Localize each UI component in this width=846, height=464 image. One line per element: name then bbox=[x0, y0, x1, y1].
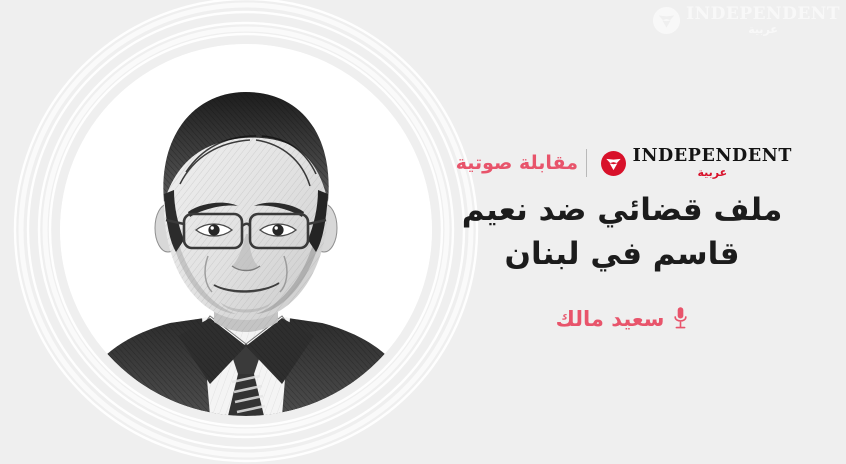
independent-arabia-logo[interactable]: INDEPENDENT عربية bbox=[601, 148, 792, 178]
watermark-wordmark: INDEPENDENT bbox=[686, 6, 840, 23]
byline: سعيد مالك bbox=[452, 306, 792, 331]
vertical-divider bbox=[586, 149, 587, 177]
independent-bird-icon bbox=[601, 151, 626, 176]
headline-line-2: قاسم في لبنان bbox=[452, 232, 792, 276]
independent-bird-icon bbox=[653, 7, 680, 34]
kicker-label: مقابلة صوتية bbox=[452, 152, 586, 174]
headline-line-1: ملف قضائي ضد نعيم bbox=[452, 188, 792, 232]
promo-text-column: مقابلة صوتية INDEPENDENT عربية ملف قضائي… bbox=[452, 0, 846, 464]
byline-author-name: سعيد مالك bbox=[556, 307, 665, 331]
watermark-logo: INDEPENDENT عربية bbox=[653, 6, 840, 35]
headline: ملف قضائي ضد نعيم قاسم في لبنان bbox=[452, 188, 792, 276]
brand-wordmark: INDEPENDENT bbox=[633, 148, 792, 166]
microphone-icon bbox=[673, 306, 688, 331]
portrait-sketch-illustration bbox=[60, 44, 432, 416]
watermark-wordmark-stack: INDEPENDENT عربية bbox=[686, 6, 840, 35]
kicker-row: مقابلة صوتية INDEPENDENT عربية bbox=[452, 138, 792, 188]
brand-sub-arabia: عربية bbox=[698, 167, 728, 178]
portrait-avatar bbox=[60, 44, 432, 416]
article-promo-card: مقابلة صوتية INDEPENDENT عربية ملف قضائي… bbox=[0, 0, 846, 464]
brand-wordmark-stack: INDEPENDENT عربية bbox=[633, 148, 792, 178]
watermark-sub-arabia: عربية bbox=[748, 24, 778, 35]
